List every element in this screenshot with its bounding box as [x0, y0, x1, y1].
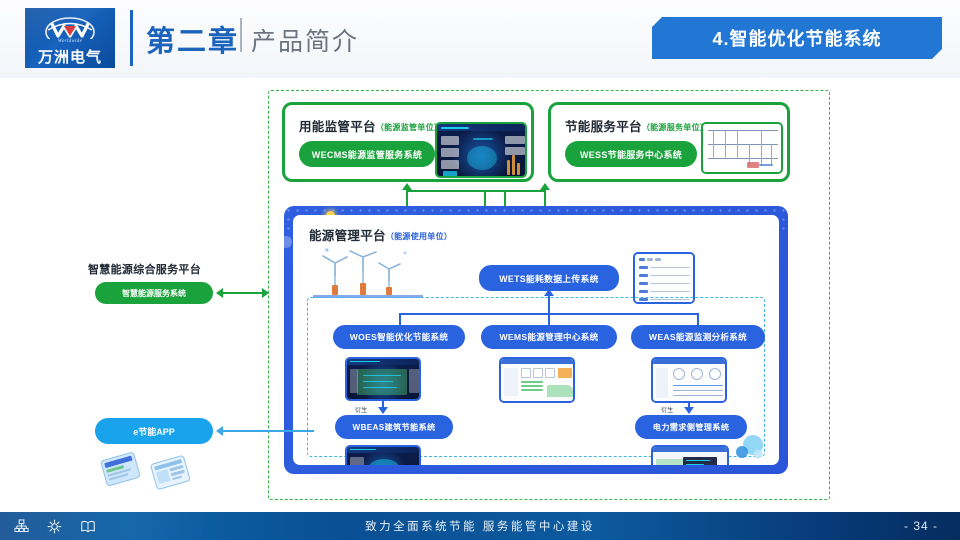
app-connector — [222, 430, 314, 432]
wets-upload-pill[interactable]: WETS能耗数据上传系统 — [479, 265, 619, 291]
smart-energy-platform-title: 智慧能源综合服务平台 — [88, 261, 201, 277]
weas-pill[interactable]: WEAS能源监测分析系统 — [631, 325, 765, 349]
wems-screenshot[interactable] — [499, 357, 575, 403]
service-title-text: 节能服务平台 — [565, 120, 642, 134]
chapter-title: 第二章 — [146, 18, 239, 60]
smart-energy-arrow-left — [216, 288, 223, 298]
weas-screenshot[interactable] — [651, 357, 727, 403]
form-list-thumbnail — [635, 254, 693, 302]
logo-chinese-name: 万洲电气 — [25, 46, 115, 67]
weas-derive-head — [684, 407, 694, 414]
phone-mockup-illustration — [98, 446, 218, 494]
weas-derive-label: 衍生 — [661, 405, 674, 414]
w-logo-icon — [44, 15, 96, 39]
schematic-diagram-thumbnail — [703, 124, 781, 172]
app-arrow-left — [216, 426, 223, 436]
supervise-card-title: 用能监管平台（能源监管单位） — [299, 116, 442, 135]
woes-screenshot[interactable] — [345, 357, 421, 401]
supervise-title-paren: （能源监管单位） — [376, 123, 442, 132]
wecms-pill[interactable]: WECMS能源监管服务系统 — [299, 141, 435, 167]
chapter-separator — [240, 18, 242, 52]
wind-turbine-illustration — [313, 243, 423, 303]
dark-building-bi-thumbnail — [347, 447, 419, 465]
slide-body: 用能监管平台（能源监管单位） WECMS能源监管服务系统 节能服务 — [0, 78, 960, 512]
wets-feed-head — [544, 289, 554, 296]
energy-management-panel[interactable]: 能源管理平台（能源使用单位） — [284, 206, 788, 474]
footer-slogan: 致力全面系统节能 服务能管中心建设 — [0, 512, 960, 540]
panel-inner: 能源管理平台（能源使用单位） — [293, 215, 779, 465]
main-panel-title-text: 能源管理平台 — [309, 229, 386, 243]
wets-feed-stem — [548, 295, 550, 315]
wbeas-pill[interactable]: WBEAS建筑节能系统 — [335, 415, 453, 439]
woes-pill[interactable]: WOES智能优化节能系统 — [333, 325, 465, 349]
slide-footer: 致力全面系统节能 服务能管中心建设 - 34 - — [0, 512, 960, 540]
logo-english-name: Worldwide — [25, 39, 115, 44]
service-title-paren: （能源服务单位） — [642, 123, 708, 132]
light-map-grid-thumbnail — [653, 447, 727, 465]
supervise-title-text: 用能监管平台 — [299, 120, 376, 134]
topic-banner: 4.智能优化节能系统 — [652, 17, 942, 59]
service-card-title: 节能服务平台（能源服务单位） — [565, 116, 708, 135]
smart-energy-connector — [222, 292, 264, 294]
chapter-subtitle: 产品简介 — [251, 22, 359, 58]
decorative-orb — [284, 236, 292, 248]
page-number: - 34 - — [904, 512, 938, 540]
smart-energy-arrow-right — [262, 288, 269, 298]
main-panel-title: 能源管理平台（能源使用单位） — [309, 225, 452, 244]
company-logo: Worldwide 万洲电气 — [25, 8, 115, 68]
decorative-blob-icon — [731, 433, 765, 459]
supervise-platform-card[interactable]: 用能监管平台（能源监管单位） WECMS能源监管服务系统 — [282, 102, 534, 182]
wess-pill[interactable]: WESS节能服务中心系统 — [565, 141, 697, 167]
woes-derive-label: 衍生 — [355, 405, 368, 414]
dsm-screenshot[interactable] — [651, 445, 729, 465]
supervise-screenshot[interactable] — [435, 122, 527, 178]
woes-derive-head — [378, 407, 388, 414]
light-report-dashboard-thumbnail — [501, 359, 573, 401]
light-gauge-analysis-thumbnail — [653, 359, 725, 401]
slide-header: Worldwide 万洲电气 第二章 产品简介 4.智能优化节能系统 — [0, 0, 960, 78]
service-screenshot[interactable] — [701, 122, 783, 174]
e-energy-app-pill[interactable]: e节能APP — [95, 418, 213, 444]
service-platform-card[interactable]: 节能服务平台（能源服务单位） WESS节能服务中心系统 — [548, 102, 790, 182]
arrow-up-right-head — [540, 183, 550, 190]
header-divider — [130, 10, 133, 66]
dark-gis-dashboard-thumbnail — [437, 124, 525, 176]
arrow-up-bridge — [406, 190, 546, 192]
arrow-up-left-head — [402, 183, 412, 190]
wems-pill[interactable]: WEMS能源管理中心系统 — [481, 325, 617, 349]
wbeas-screenshot[interactable] — [345, 445, 421, 465]
dark-plant-scada-thumbnail — [347, 359, 419, 399]
smart-energy-service-pill[interactable]: 智慧能源服务系统 — [95, 282, 213, 304]
main-panel-title-paren: （能源使用单位） — [386, 232, 452, 241]
